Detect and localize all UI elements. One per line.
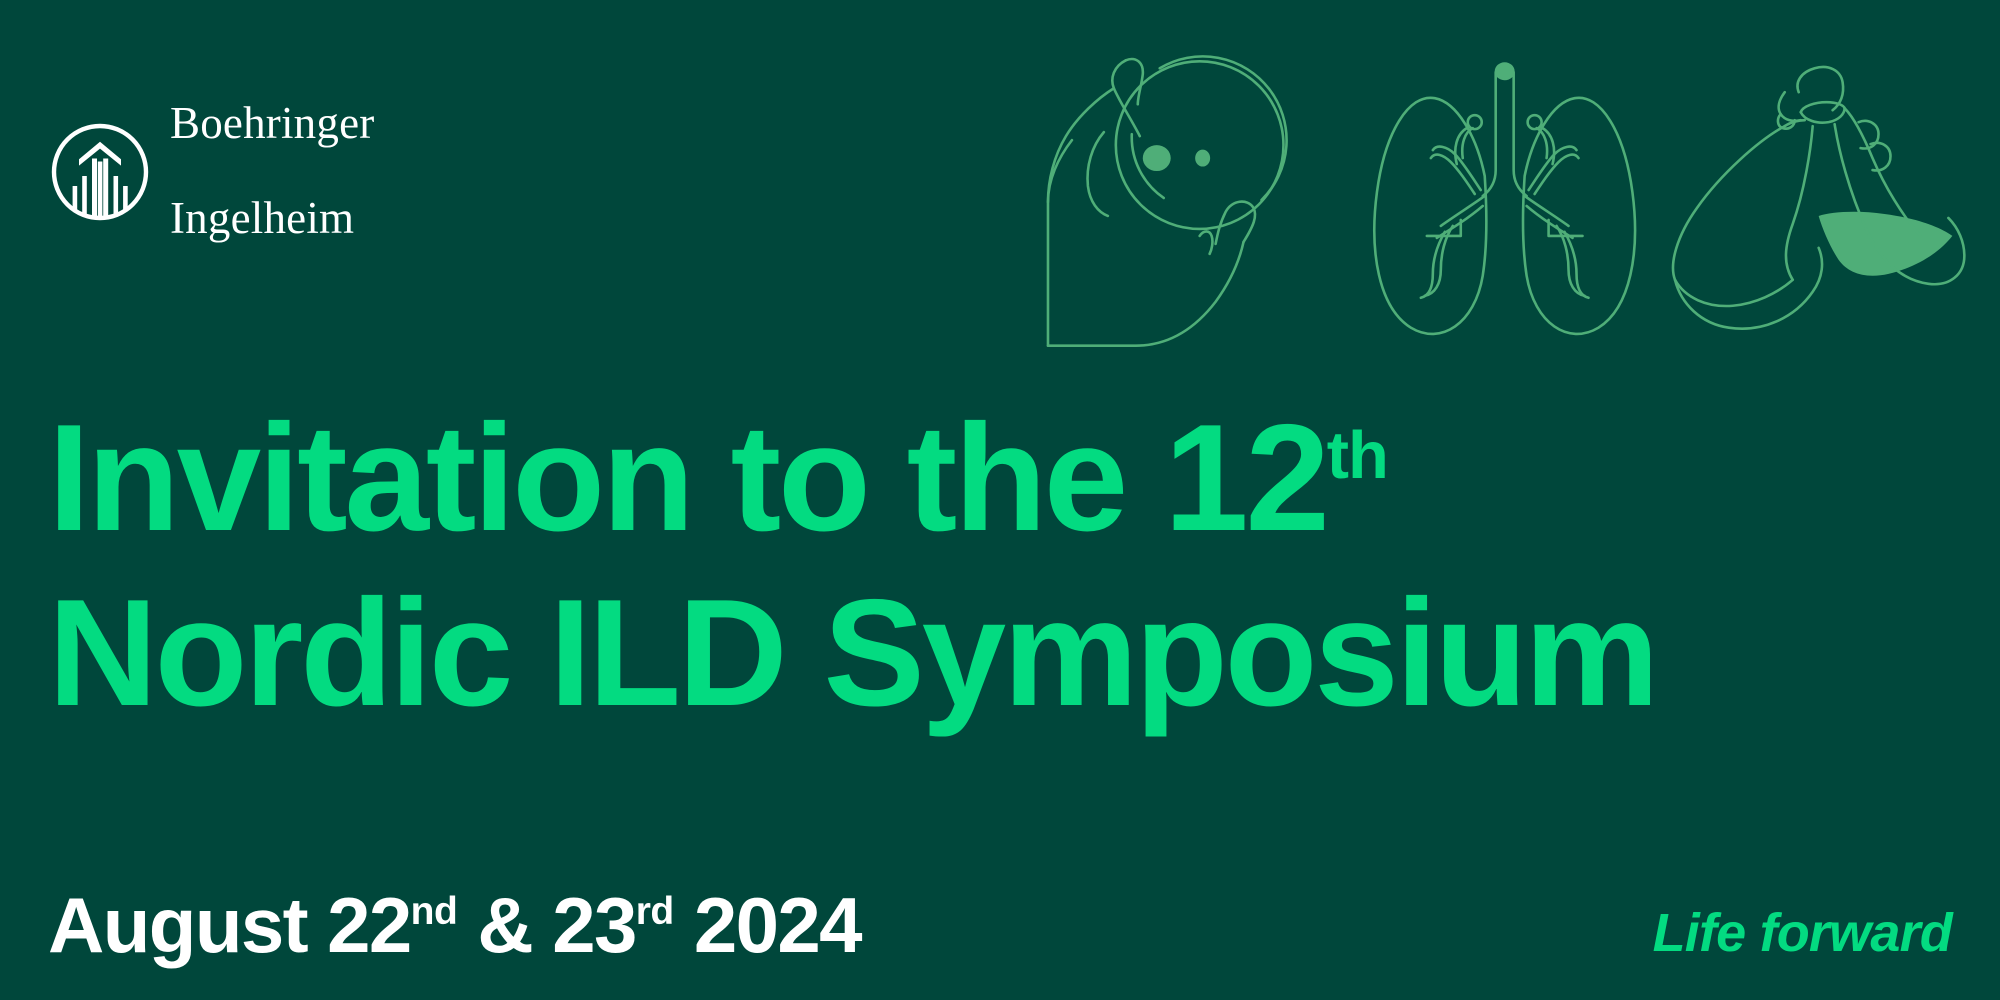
illustration-strip xyxy=(1040,40,2000,360)
brand-tagline: Life forward xyxy=(1653,906,1952,960)
hand-holding-flask-icon xyxy=(1667,40,1986,340)
lungs-icon xyxy=(1357,40,1656,345)
event-date: August 22nd & 23rd 2024 xyxy=(48,886,861,964)
event-date-month: August xyxy=(48,881,327,969)
headline-line-1-text: Invitation to the 12 xyxy=(48,393,1327,563)
event-date-day-2: 23 xyxy=(552,881,636,969)
brand-wordmark: Boehringer Ingelheim xyxy=(170,52,374,292)
page-title: Invitation to the 12th Nordic ILD Sympos… xyxy=(48,400,1948,731)
event-date-day-1: 22 xyxy=(327,881,411,969)
boehringer-ingelheim-mark-icon xyxy=(48,120,152,224)
brand-logo-lockup: Boehringer Ingelheim xyxy=(48,52,374,292)
brand-wordmark-line-1: Boehringer xyxy=(170,100,374,148)
headline-line-2: Nordic ILD Symposium xyxy=(48,575,1948,732)
event-date-year: 2024 xyxy=(674,881,861,969)
brand-wordmark-line-2: Ingelheim xyxy=(170,195,374,243)
event-date-day-1-ordinal: nd xyxy=(411,890,458,933)
event-date-day-2-ordinal: rd xyxy=(636,890,674,933)
event-date-separator: & xyxy=(457,881,552,969)
flask-liquid xyxy=(1818,212,1952,276)
hand-holding-face-icon xyxy=(1040,40,1339,350)
invitation-banner: Boehringer Ingelheim xyxy=(0,0,2000,1000)
headline-line-1: Invitation to the 12th xyxy=(48,400,1948,557)
headline-ordinal-suffix: th xyxy=(1327,418,1388,493)
